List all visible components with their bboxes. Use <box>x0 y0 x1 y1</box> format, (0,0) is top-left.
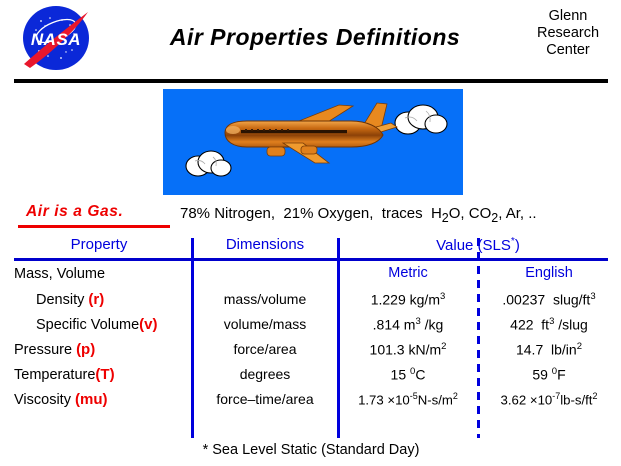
page-title: Air Properties Definitions <box>120 24 510 51</box>
nasa-logo-icon: NASA <box>14 4 102 74</box>
air-is-a-gas-label: Air is a Gas. <box>26 203 123 221</box>
property-symbol: (r) <box>88 291 104 308</box>
properties-table: Property Dimensions Value (SLS*) Metric … <box>0 232 621 466</box>
row-english-value: .00237 slug/ft3 <box>481 291 617 308</box>
page-header: NASA Air Properties Definitions Glenn Re… <box>0 0 621 80</box>
header-divider <box>14 79 608 83</box>
property-name: Specific Volume <box>36 317 139 333</box>
row-dimensions: degrees <box>196 366 334 382</box>
row-metric-value: 1.229 kg/m3 <box>340 291 476 308</box>
row-property-label: Mass, Volume <box>14 266 186 282</box>
property-name: Viscosity <box>14 392 71 408</box>
row-english-value: 59 0F <box>481 366 617 383</box>
nasa-center-name: Glenn Research Center <box>520 8 616 59</box>
air-is-a-gas-underline <box>18 225 170 228</box>
table-row: Mass, Volume <box>0 266 621 292</box>
table-footnote: * Sea Level Static (Standard Day) <box>14 442 608 458</box>
table-row: Specific Volume(v) volume/mass .814 m3 /… <box>0 316 621 342</box>
row-property-label: Pressure (p) <box>14 341 186 358</box>
row-property-label: Temperature(T) <box>14 366 186 383</box>
air-composition-note: Air is a Gas. 78% Nitrogen, 21% Oxygen, … <box>0 203 621 229</box>
row-metric-value: 1.73 ×10-5N-s/m2 <box>340 391 476 407</box>
row-dimensions: mass/volume <box>196 291 334 307</box>
row-metric-value: 101.3 kN/m2 <box>340 341 476 358</box>
sky-illustration-panel <box>163 89 463 195</box>
table-row: Temperature(T) degrees 15 0C 59 0F <box>0 366 621 392</box>
property-name: Temperature <box>14 367 95 383</box>
row-metric-value: 15 0C <box>340 366 476 383</box>
svg-text:NASA: NASA <box>31 30 81 49</box>
property-name: Pressure <box>14 342 72 358</box>
column-header-dimensions: Dimensions <box>196 236 334 253</box>
airplane-icon <box>211 99 401 171</box>
row-english-value: 14.7 lb/in2 <box>481 341 617 358</box>
table-row: Viscosity (mu) force–time/area 1.73 ×10-… <box>0 391 621 417</box>
table-row: Density (r) mass/volume 1.229 kg/m3 .002… <box>0 291 621 317</box>
property-symbol: (T) <box>95 366 114 383</box>
property-symbol: (p) <box>76 341 95 358</box>
column-header-property: Property <box>14 236 184 253</box>
table-row: Pressure (p) force/area 101.3 kN/m2 14.7… <box>0 341 621 367</box>
property-symbol: (v) <box>139 316 157 333</box>
center-line-2: Research <box>520 25 616 42</box>
row-property-label: Density (r) <box>14 291 208 308</box>
row-dimensions: force–time/area <box>196 391 334 407</box>
property-name: Density <box>36 292 84 308</box>
center-line-1: Glenn <box>520 8 616 25</box>
property-symbol: (mu) <box>75 391 108 408</box>
center-line-3: Center <box>520 42 616 59</box>
composition-text: 78% Nitrogen, 21% Oxygen, traces H2O, CO… <box>180 205 537 225</box>
table-header-rule <box>14 258 608 261</box>
row-metric-value: .814 m3 /kg <box>340 316 476 333</box>
row-english-value: 3.62 ×10-7lb-s/ft2 <box>481 391 617 407</box>
row-dimensions: force/area <box>196 341 334 357</box>
row-property-label: Viscosity (mu) <box>14 391 186 408</box>
row-property-label: Specific Volume(v) <box>14 316 208 333</box>
row-english-value: 422 ft3 /slug <box>481 316 617 333</box>
row-dimensions: volume/mass <box>196 316 334 332</box>
